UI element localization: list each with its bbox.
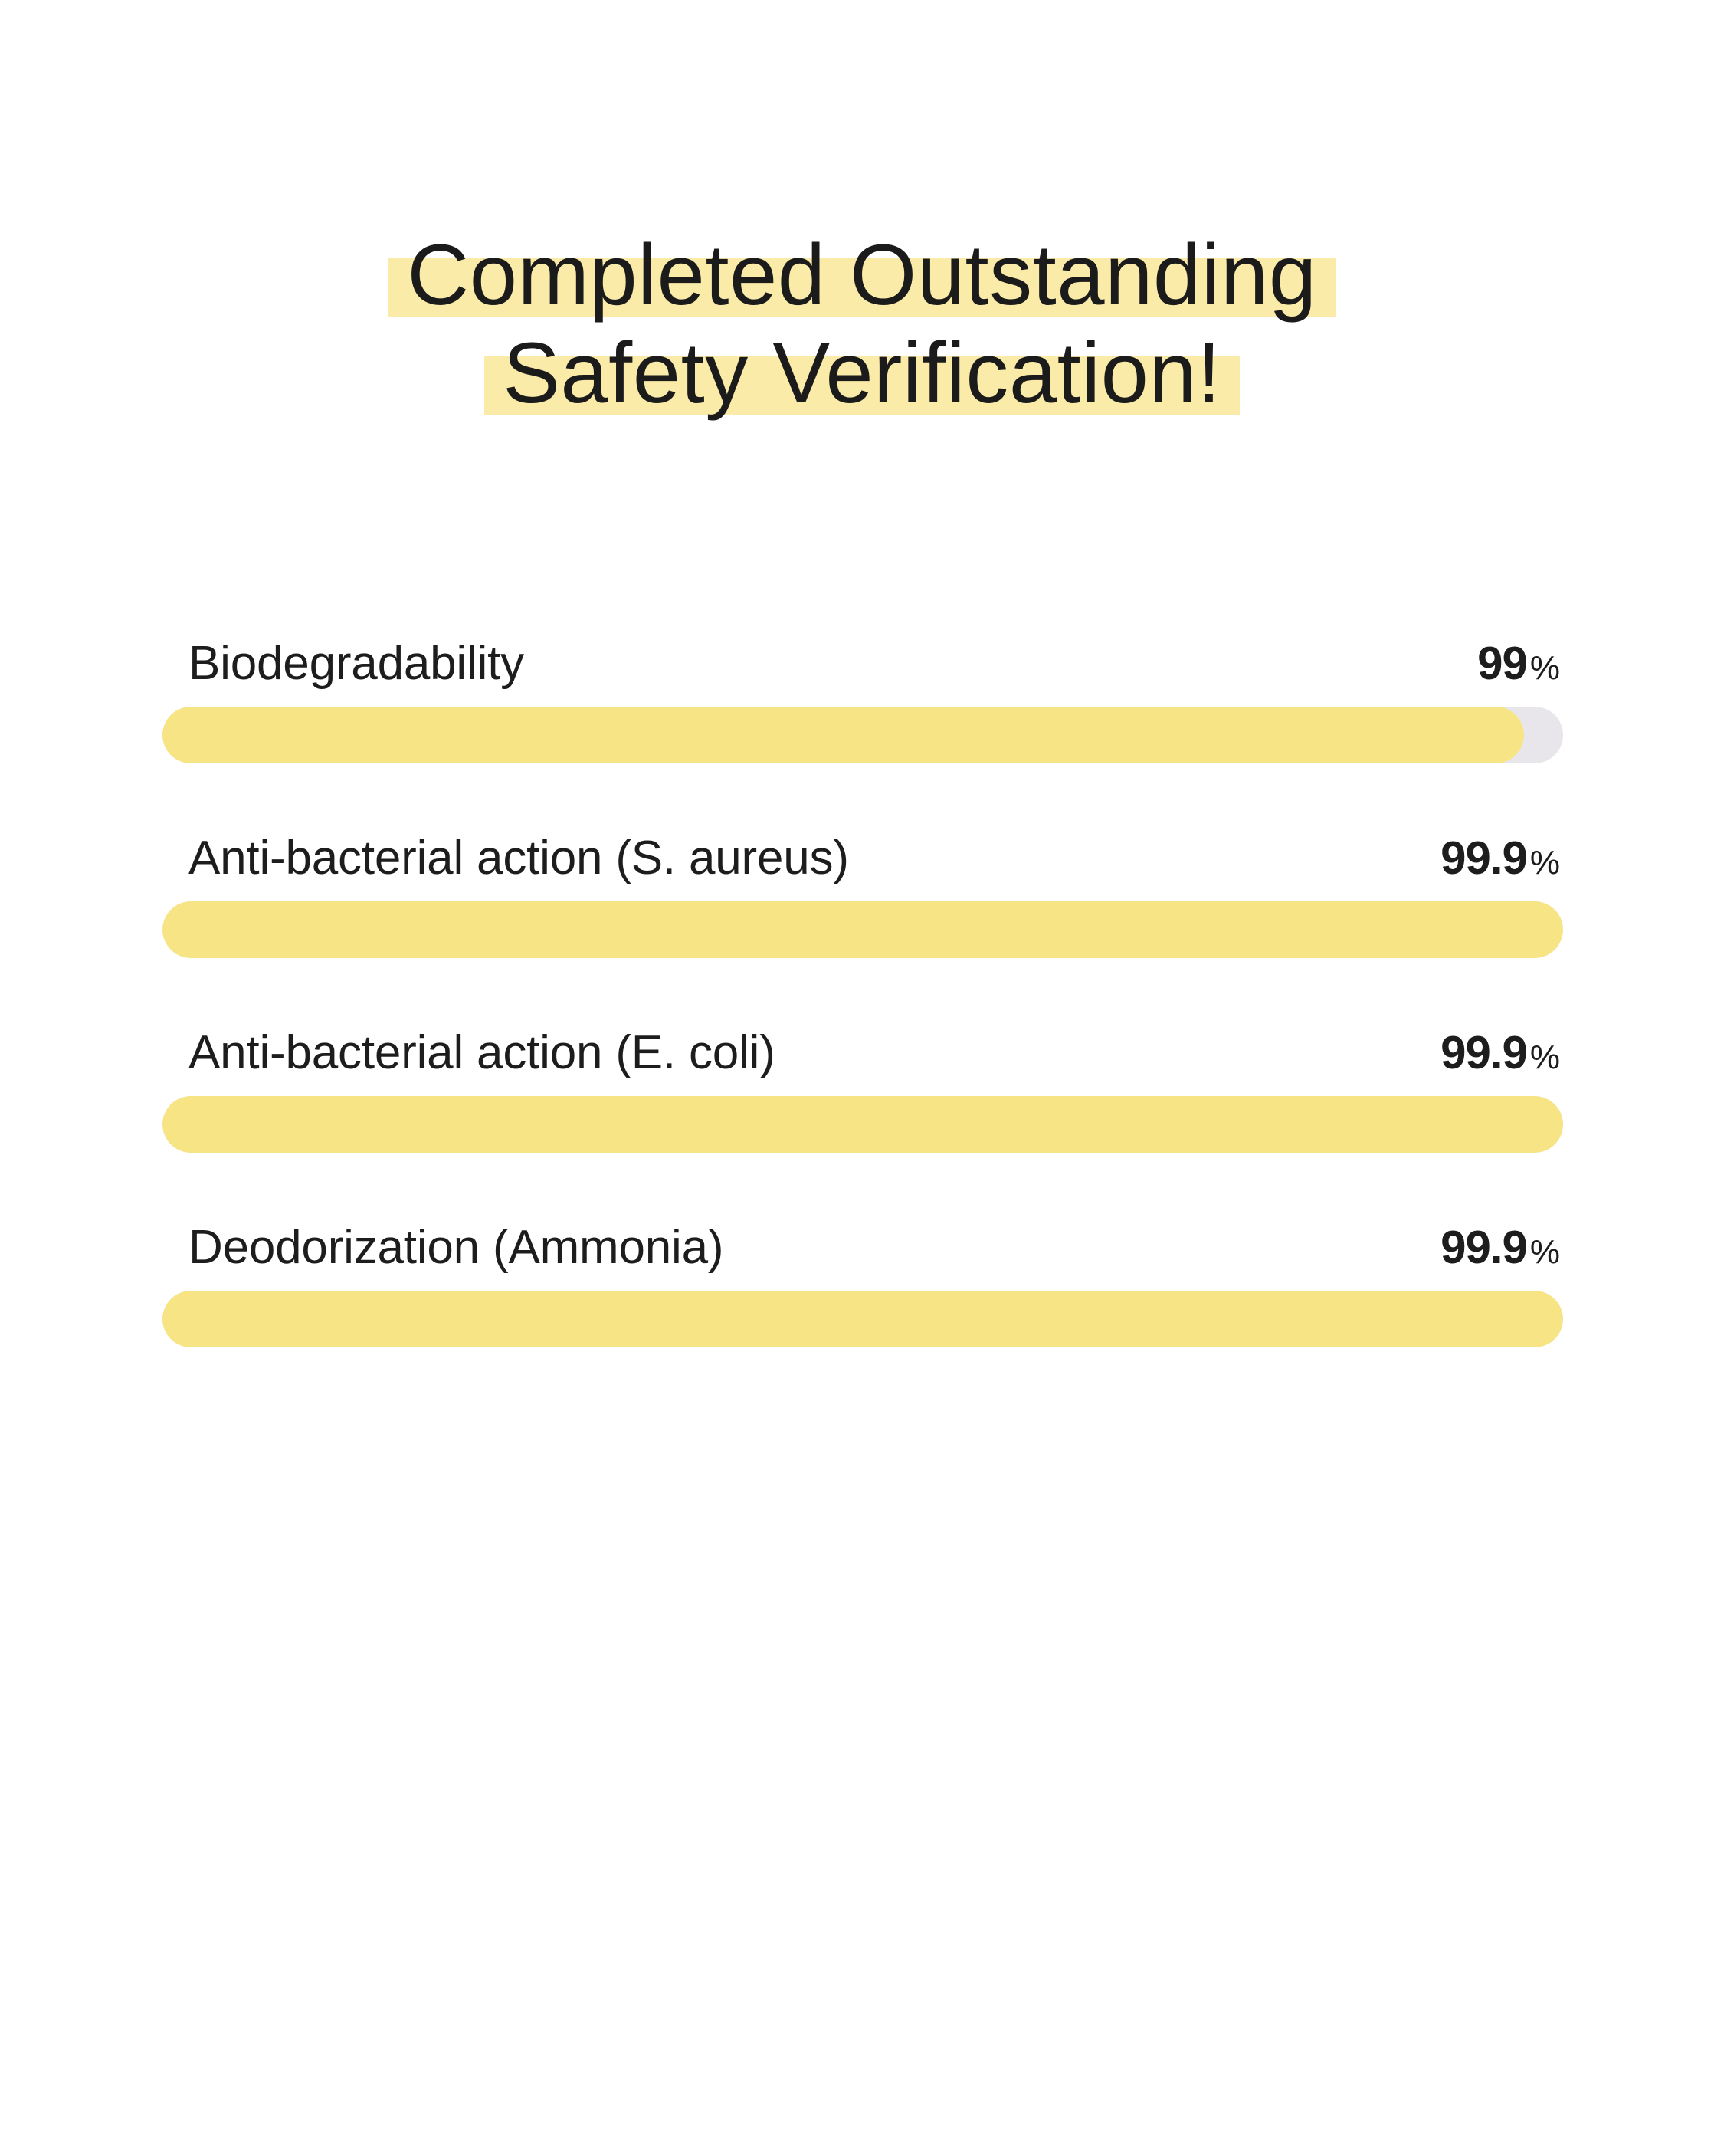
- title-line-1-text: Completed Outstanding: [402, 230, 1321, 320]
- metric-unit: %: [1530, 1039, 1560, 1076]
- metric-value: 99.9%: [1440, 1220, 1560, 1280]
- metric-header: Deodorization (Ammonia) 99.9%: [162, 1220, 1563, 1291]
- page-title: Completed Outstanding Safety Verificatio…: [0, 230, 1724, 418]
- metric-label: Anti-bacterial action (S. aureus): [188, 831, 849, 886]
- progress-bar-track: [162, 707, 1563, 763]
- metrics-list: Biodegradability 99% Anti-bacterial acti…: [162, 636, 1563, 1347]
- metric-header: Biodegradability 99%: [162, 636, 1563, 707]
- progress-bar-fill: [162, 1291, 1563, 1347]
- progress-bar-track: [162, 1291, 1563, 1347]
- progress-bar-fill: [162, 901, 1563, 958]
- metric-label: Biodegradability: [188, 636, 524, 691]
- metric-row: Anti-bacterial action (E. coli) 99.9%: [162, 1025, 1563, 1153]
- metric-row: Anti-bacterial action (S. aureus) 99.9%: [162, 831, 1563, 958]
- metric-number: 99.9: [1440, 832, 1527, 884]
- metric-label: Anti-bacterial action (E. coli): [188, 1025, 775, 1081]
- progress-bar-fill: [162, 1096, 1563, 1153]
- title-line-1: Completed Outstanding: [0, 230, 1724, 320]
- metric-number: 99.9: [1440, 1222, 1527, 1273]
- title-line-2: Safety Verification!: [0, 328, 1724, 418]
- metric-value: 99.9%: [1440, 831, 1560, 891]
- metric-label: Deodorization (Ammonia): [188, 1220, 723, 1275]
- metric-value: 99%: [1477, 636, 1560, 696]
- metric-value: 99.9%: [1440, 1025, 1560, 1085]
- metric-unit: %: [1530, 844, 1560, 881]
- metric-number: 99.9: [1440, 1027, 1527, 1078]
- metric-unit: %: [1530, 649, 1560, 687]
- metric-row: Deodorization (Ammonia) 99.9%: [162, 1220, 1563, 1347]
- metric-header: Anti-bacterial action (E. coli) 99.9%: [162, 1025, 1563, 1096]
- progress-bar-track: [162, 901, 1563, 958]
- metric-header: Anti-bacterial action (S. aureus) 99.9%: [162, 831, 1563, 901]
- metric-unit: %: [1530, 1233, 1560, 1271]
- progress-bar-fill: [162, 707, 1524, 763]
- metric-row: Biodegradability 99%: [162, 636, 1563, 763]
- metric-number: 99: [1477, 638, 1527, 689]
- infographic-page: Completed Outstanding Safety Verificatio…: [0, 0, 1724, 2156]
- title-line-2-text: Safety Verification!: [498, 328, 1226, 418]
- progress-bar-track: [162, 1096, 1563, 1153]
